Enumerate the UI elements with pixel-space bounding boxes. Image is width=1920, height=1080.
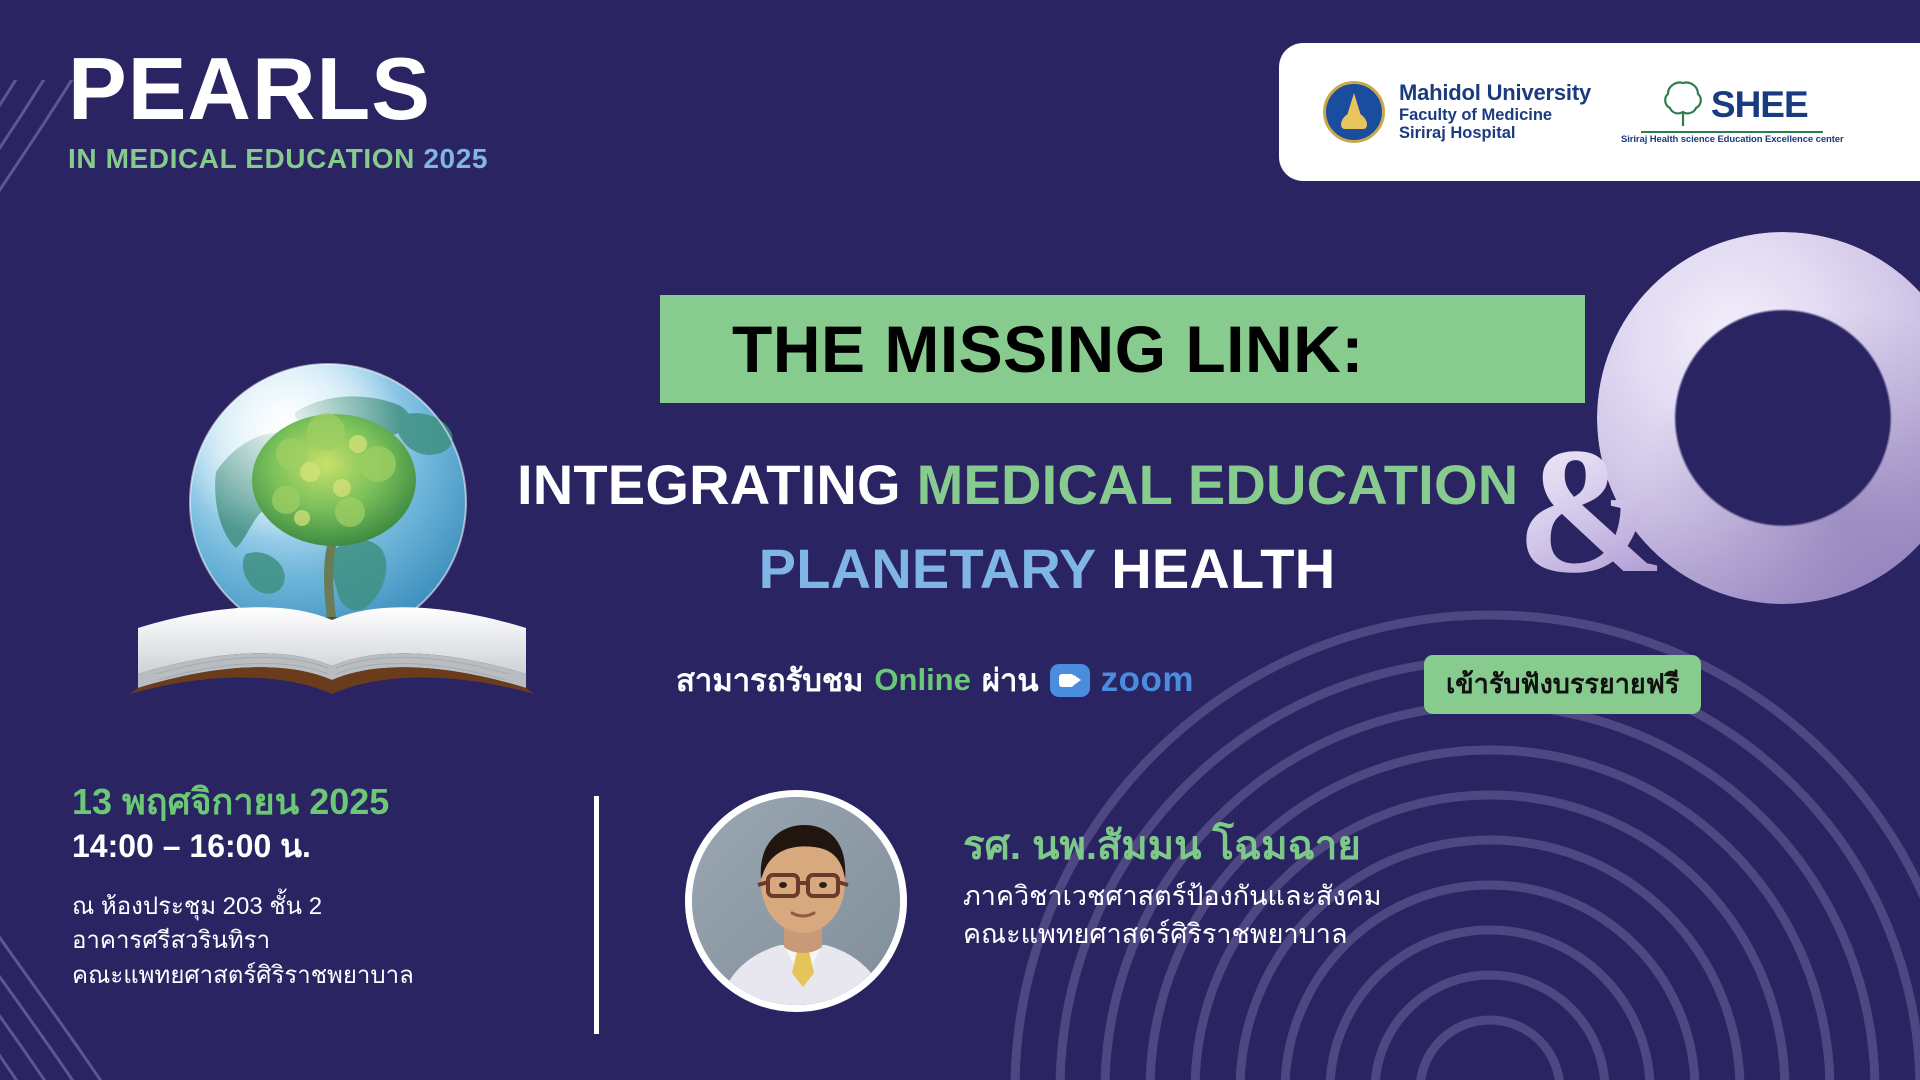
online-prefix: สามารถรับชม [676,655,863,705]
brand-title: PEARLS [68,47,488,131]
speaker-affiliation: ภาควิชาเวชศาสตร์ป้องกันและสังคม คณะแพทยศ… [963,877,1382,954]
main-title-line3-blue: PLANETARY [759,537,1112,600]
event-info-block: 13 พฤศจิกายน 2025 14:00 – 16:00 น. ณ ห้อ… [72,780,414,994]
mahidol-seal-icon [1323,81,1385,143]
ampersand-decoration: & [1516,421,1666,601]
online-highlight: Online [874,662,970,698]
shee-divider [1641,131,1823,133]
speaker-affiliation-line2: คณะแพทยศาสตร์ศิริราชพยาบาล [963,915,1382,953]
shee-logo-row: SHEE [1657,79,1808,129]
free-admission-badge: เข้ารับฟังบรรยายฟรี [1424,655,1701,714]
mahidol-line1: Mahidol University [1399,81,1591,106]
online-availability-line: สามารถรับชม Online ผ่าน zoom [676,655,1194,705]
main-title-line2-green: MEDICAL EDUCATION [917,453,1519,516]
main-title-line3: PLANETARY HEALTH [517,536,1577,601]
event-date: 13 พฤศจิกายน 2025 [72,780,414,824]
main-title-banner: THE MISSING LINK: [660,295,1585,403]
main-title-line2: INTEGRATING MEDICAL EDUCATION [517,452,1577,517]
speaker-name: รศ. นพ.สัมมน โฉมฉาย [963,822,1382,870]
speaker-info-block: รศ. นพ.สัมมน โฉมฉาย ภาควิชาเวชศาสตร์ป้อง… [963,822,1382,954]
venue-line2: อาคารศรีสวรินทิรา [72,924,414,959]
online-via: ผ่าน [982,655,1039,705]
shee-tagline: Siriraj Health science Education Excelle… [1621,134,1844,145]
zoom-camera-icon [1050,664,1090,697]
mahidol-logo-text: Mahidol University Faculty of Medicine S… [1399,81,1591,143]
event-poster: PEARLS IN MEDICAL EDUCATION 2025 Mahidol… [0,0,1920,1080]
logo-card: Mahidol University Faculty of Medicine S… [1279,43,1920,181]
event-venue: ณ ห้องประชุม 203 ชั้น 2 อาคารศรีสวรินทิร… [72,890,414,994]
shee-acronym: SHEE [1711,86,1808,123]
shee-tree-icon [1657,79,1709,129]
speaker-portrait [685,790,907,1012]
brand-subtitle-year: 2025 [423,143,488,174]
venue-line3: คณะแพทยศาสตร์ศิริราชพยาบาล [72,959,414,994]
shee-logo: SHEE Siriraj Health science Education Ex… [1621,79,1844,145]
globe-tree-book-illustration [96,322,576,712]
mahidol-logo: Mahidol University Faculty of Medicine S… [1323,81,1591,143]
zoom-wordmark: zoom [1101,660,1194,700]
vertical-divider [594,796,599,1034]
main-title-line3-white: HEALTH [1111,537,1335,600]
brand-subtitle: IN MEDICAL EDUCATION 2025 [68,143,488,175]
mahidol-line3: Siriraj Hospital [1399,124,1591,142]
main-title-line1: THE MISSING LINK: [732,311,1364,387]
event-time: 14:00 – 16:00 น. [72,826,414,868]
brand-subtitle-main: IN MEDICAL EDUCATION [68,143,415,174]
main-title-line2-white: INTEGRATING [517,453,917,516]
brand-block: PEARLS IN MEDICAL EDUCATION 2025 [68,47,488,175]
mahidol-line2: Faculty of Medicine [1399,106,1591,124]
venue-line1: ณ ห้องประชุม 203 ชั้น 2 [72,890,414,925]
speaker-affiliation-line1: ภาควิชาเวชศาสตร์ป้องกันและสังคม [963,877,1382,915]
